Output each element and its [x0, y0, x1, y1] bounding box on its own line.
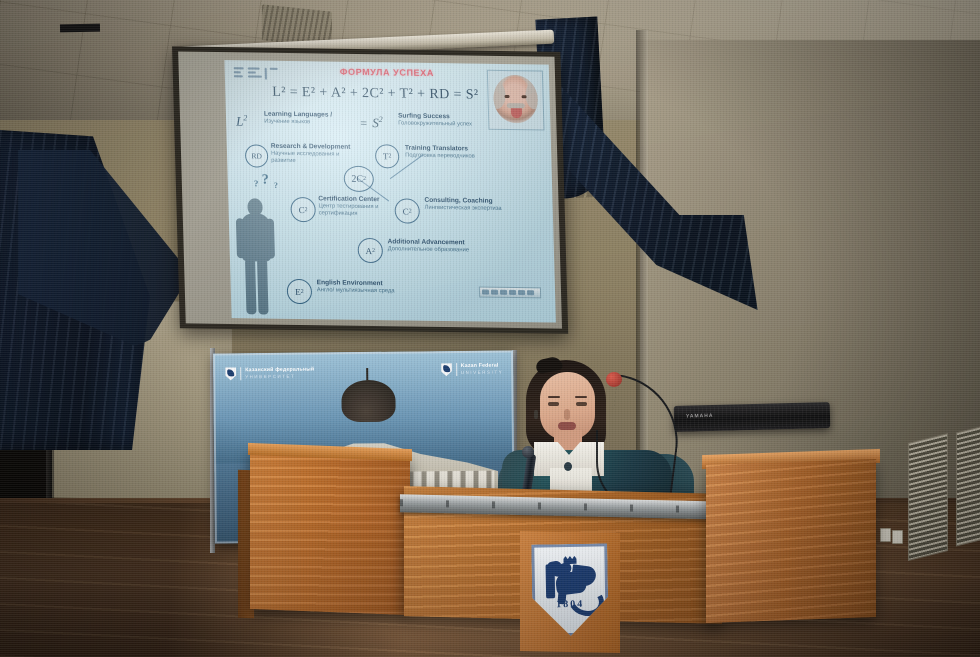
wall-vent-icon	[908, 433, 948, 561]
lectern	[250, 449, 410, 615]
node-c2-consulting: C2	[394, 198, 420, 223]
wall-vent-icon	[956, 424, 980, 547]
speaker-mount-bracket	[60, 24, 100, 33]
eq-left-symbol: L2	[236, 113, 248, 129]
eq-equals: =	[360, 116, 367, 131]
projection-screen-frame: ФОРМУЛА УСПЕХА L² = E² + A² + 2C² + T² +…	[172, 46, 568, 333]
presenter-pendant	[564, 462, 572, 471]
eq-left-label-ru: Изучение языков	[264, 118, 332, 126]
projection-screen-assembly: ФОРМУЛА УСПЕХА L² = E² + A² + 2C² + T² +…	[172, 33, 572, 340]
node-c2-certification: C2	[290, 197, 316, 222]
node-c2-cert-label-ru: Центр тестирования и сертификация	[318, 203, 402, 218]
node-a2: A2	[357, 238, 383, 263]
power-outlet-icon	[892, 530, 903, 544]
presenter-earring	[534, 410, 538, 419]
question-mark-icon: ?	[254, 178, 259, 188]
slide-toolbar-overlay[interactable]	[479, 286, 541, 298]
einstein-photo	[487, 70, 545, 131]
microphone-windscreen	[606, 372, 622, 387]
gooseneck-microphone[interactable]	[610, 378, 680, 506]
question-mark-icon: ?	[262, 173, 269, 189]
conference-hall-photo: ФОРМУЛА УСПЕХА L² = E² + A² + 2C² + T² +…	[0, 0, 980, 657]
question-mark-icon: ?	[274, 181, 278, 190]
eq-right-label-ru: Головокружительный успех	[398, 120, 472, 128]
node-a2-label-ru: Дополнительное образование	[388, 246, 518, 255]
presentation-slide: ФОРМУЛА УСПЕХА L² = E² + A² + 2C² + T² +…	[224, 60, 555, 322]
side-table	[706, 459, 876, 623]
node-rd: RD	[245, 144, 269, 167]
node-2c2: 2C2	[343, 166, 374, 192]
microphone-stem	[603, 374, 686, 507]
einstein-face-icon	[493, 75, 538, 124]
node-e2-label-ru: Англо/ мультиязычная среда	[317, 287, 457, 296]
node-rd-label-ru: Научные исследования и развитие	[271, 150, 357, 165]
node-e2: E2	[287, 279, 313, 304]
node-t2-label-ru: Подготовка переводчиков	[405, 152, 525, 161]
projection-screen-surface: ФОРМУЛА УСПЕХА L² = E² + A² + 2C² + T² +…	[178, 51, 562, 328]
lectern-wood-grain	[250, 449, 410, 615]
side-table-wood-grain	[706, 459, 876, 623]
slide-formula: L² = E² + A² + 2C² + T² + RD = S²	[225, 84, 526, 104]
right-curtain	[540, 0, 800, 340]
person-silhouette-icon	[234, 198, 277, 317]
eq-right-symbol: S2	[372, 115, 383, 130]
power-outlet-icon	[880, 528, 891, 542]
rail-segments	[400, 499, 730, 513]
node-t2: T2	[375, 144, 400, 168]
node-c2-cons-label-ru: Лингвистическая экспертиза	[425, 204, 545, 213]
